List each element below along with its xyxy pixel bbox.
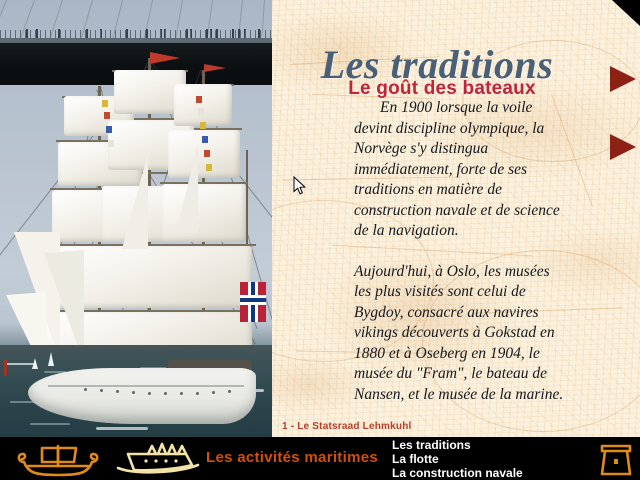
page-tab-1[interactable] — [612, 0, 640, 26]
bottom-navigation-bar: Les activités maritimes Les traditions L… — [0, 437, 640, 480]
article-paragraph-1: En 1900 lorsque la voile devint discipli… — [354, 98, 564, 242]
nav-section-label: Les activités maritimes — [206, 449, 378, 466]
lighthouse-glyph — [596, 440, 636, 478]
article-paragraph-2: Aujourd'hui, à Oslo, les musées les plus… — [354, 262, 564, 406]
page-tab-2[interactable] — [610, 66, 636, 92]
distant-sailboat-1 — [48, 352, 54, 366]
viking-ship-icon[interactable] — [14, 440, 102, 478]
modern-ship-glyph — [112, 440, 204, 478]
lighthouse-icon[interactable] — [596, 440, 636, 478]
page-tab-3[interactable] — [610, 134, 636, 160]
modern-ship-icon[interactable] — [112, 440, 204, 478]
channel-buoy — [4, 360, 7, 376]
application-window: Les traditions Le goût des bateaux En 19… — [0, 0, 640, 480]
hull-sheer-line — [48, 385, 244, 387]
nav-menu-item-traditions[interactable]: Les traditions — [392, 438, 523, 452]
distant-sailboat-2 — [32, 358, 38, 369]
nav-menu-item-flotte[interactable]: La flotte — [392, 452, 523, 466]
nav-menu-item-construction[interactable]: La construction navale — [392, 466, 523, 480]
ship-photograph — [0, 0, 272, 437]
mast-pennant-2 — [204, 64, 226, 72]
article-body: En 1900 lorsque la voile devint discipli… — [354, 98, 564, 405]
photo-caption: 1 - Le Statsraad Lehmkuhl — [272, 416, 640, 437]
page-subtitle: Le goût des bateaux — [272, 78, 612, 100]
ship-hull — [28, 368, 256, 424]
masthead-pennant — [150, 52, 180, 64]
viking-ship-glyph — [14, 440, 102, 478]
nav-menu: Les traditions La flotte La construction… — [392, 438, 523, 480]
content-panel: Les traditions Le goût des bateaux En 19… — [272, 0, 640, 437]
norwegian-flag — [240, 282, 266, 322]
